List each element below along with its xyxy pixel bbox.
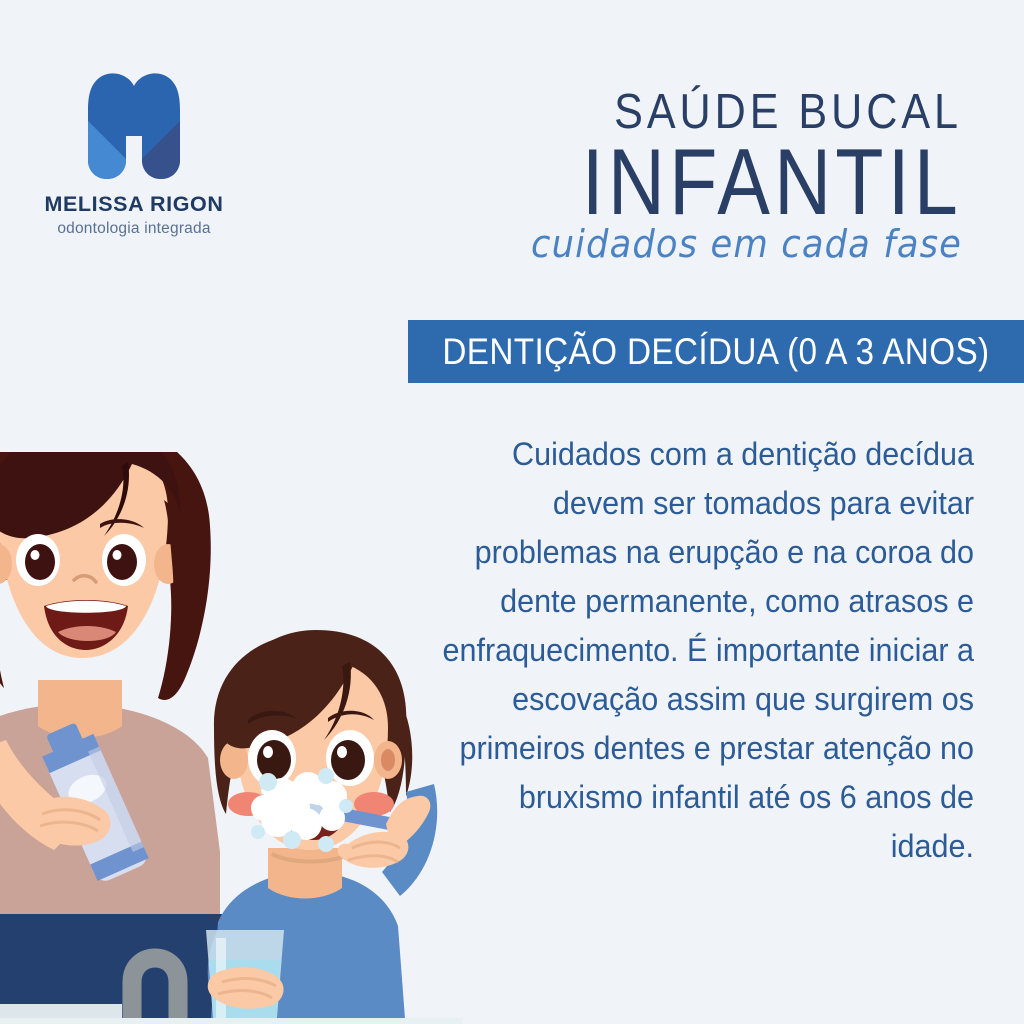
brand-logo: MELISSA RIGON odontologia integrada xyxy=(38,72,230,236)
headline-block: SAÚDE BUCAL INFANTIL cuidados em cada fa… xyxy=(342,88,962,265)
headline-line-2: INFANTIL xyxy=(441,136,962,227)
mother-figure xyxy=(0,452,222,1024)
body-paragraph: Cuidados com a dentição decídua devem se… xyxy=(438,430,974,871)
brand-subtitle: odontologia integrada xyxy=(38,221,230,237)
brand-name: MELISSA RIGON xyxy=(38,194,230,216)
poster-canvas: MELISSA RIGON odontologia integrada SAÚD… xyxy=(0,0,1024,1024)
child-figure xyxy=(206,630,437,1024)
section-banner: DENTIÇÃO DECÍDUA (0 A 3 ANOS) xyxy=(408,320,1024,383)
section-banner-title: DENTIÇÃO DECÍDUA (0 A 3 ANOS) xyxy=(442,331,989,373)
headline-script-tagline: cuidados em cada fase xyxy=(385,225,962,265)
mother-and-child-illustration xyxy=(0,452,462,1024)
tooth-logo-icon xyxy=(87,72,181,180)
